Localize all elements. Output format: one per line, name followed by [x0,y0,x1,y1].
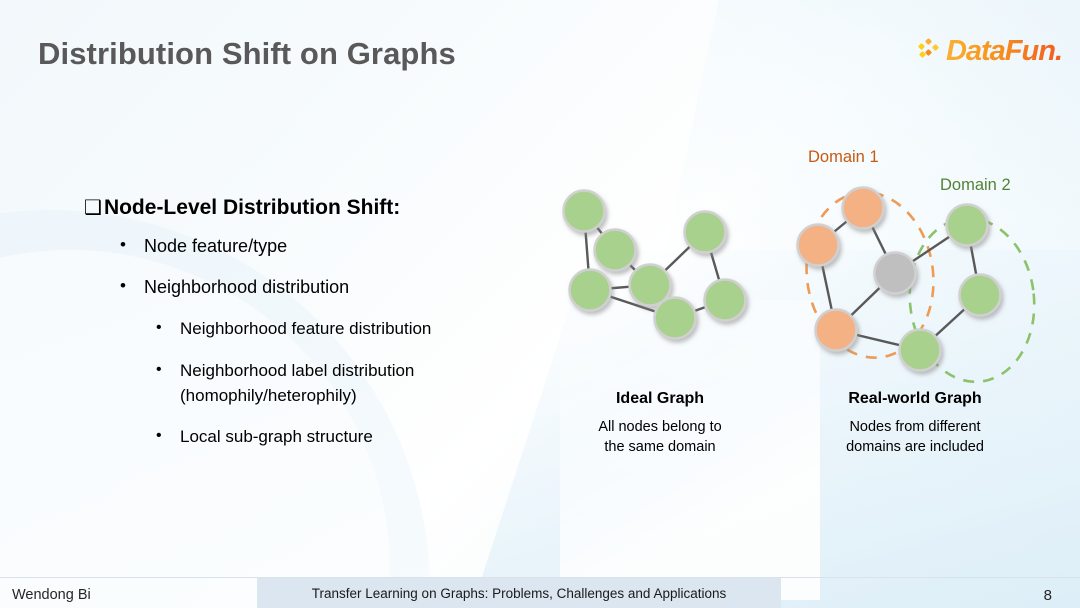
section-heading: ❑ Node-Level Distribution Shift: [84,196,400,220]
real-world-graph-nodes [798,188,1001,371]
ideal-graph [564,191,746,339]
ideal-graph-nodes [564,191,746,339]
real-caption-line1: Nodes from different [849,419,980,435]
datafun-logo-text: DataFun. [946,35,1062,68]
list-item: Local sub-graph structure [108,425,548,450]
list-item: Neighborhood distribution [108,277,548,298]
graph-node-domain2 [960,275,1001,316]
list-item: Neighborhood label distribution (homophi… [108,359,548,408]
real-caption-line2: domains are included [846,439,984,455]
footer-author: Wendong Bi [12,587,91,603]
graph-node-domain2 [947,205,988,246]
list-item: Neighborhood feature distribution [108,317,548,342]
list-item: Node feature/type [108,236,548,257]
footer-title-label: Transfer Learning on Graphs: Problems, C… [312,586,727,601]
graph-node [570,270,611,311]
ideal-caption-line2: the same domain [604,439,715,455]
real-graph-caption-sub: Nodes from different domains are include… [815,418,1015,457]
list-item-line: Neighborhood label distribution [180,361,414,380]
graph-node-neutral [875,253,916,294]
domain1-label: Domain 1 [808,148,879,167]
list-item-line-continued: (homophily/heterophily) [180,384,548,409]
real-graph-caption-title: Real-world Graph [820,390,1010,408]
graph-node [595,230,636,271]
slide-canvas: Distribution Shift on Graphs DataFun. ❑ … [0,0,1080,608]
datafun-dots-icon [919,39,945,63]
section-heading-label: Node-Level Distribution Shift: [104,196,400,220]
graph-node-domain1 [843,188,884,229]
page-number: 8 [1044,587,1052,604]
graph-diagram [520,140,1060,540]
datafun-logo: DataFun. [919,34,1062,68]
footer-title-band: Transfer Learning on Graphs: Problems, C… [257,578,781,608]
list-item-line: Neighborhood feature distribution [180,319,431,338]
page-title: Distribution Shift on Graphs [38,36,456,72]
graph-node [705,280,746,321]
graph-node [685,212,726,253]
graph-node-domain2 [900,330,941,371]
square-bullet-icon: ❑ [84,197,102,217]
ideal-graph-caption-sub: All nodes belong to the same domain [560,418,760,457]
graph-node-domain1 [816,310,857,351]
ideal-caption-line1: All nodes belong to [598,419,721,435]
graph-node [564,191,605,232]
bullet-list: Node feature/type Neighborhood distribut… [108,236,548,467]
graph-node [655,298,696,339]
domain2-label: Domain 2 [940,176,1011,195]
graph-figure: Domain 1 Domain 2 Ideal Graph All nodes … [520,140,1060,540]
graph-node-domain1 [798,225,839,266]
list-item-line: Local sub-graph structure [180,427,373,446]
real-world-graph [796,184,1042,388]
ideal-graph-caption-title: Ideal Graph [570,390,750,408]
